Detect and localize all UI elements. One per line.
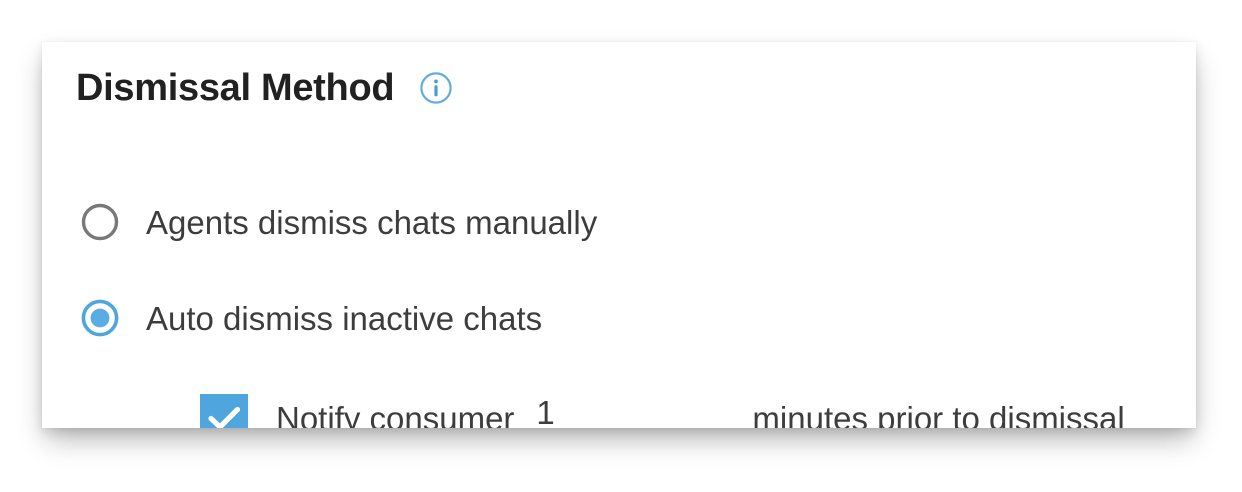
radio-selected-icon[interactable] — [80, 298, 120, 338]
notify-consumer-checkbox[interactable] — [200, 394, 248, 428]
radio-option-auto-label: Auto dismiss inactive chats — [146, 302, 542, 335]
notify-consumer-label: Notify consumer — [276, 402, 514, 429]
dismissal-method-card: Dismissal Method Agents dismiss chats ma… — [42, 42, 1196, 428]
radio-unselected-icon[interactable] — [80, 202, 120, 242]
card-header: Dismissal Method — [76, 58, 453, 118]
radio-option-manual-label: Agents dismiss chats manually — [146, 206, 597, 239]
notify-consumer-row: Notify consumer minutes prior to dismiss… — [200, 394, 1125, 428]
minutes-field-wrapper — [534, 394, 726, 428]
page-title: Dismissal Method — [76, 69, 394, 107]
radio-option-manual[interactable]: Agents dismiss chats manually — [80, 202, 597, 242]
minutes-input[interactable] — [534, 394, 726, 428]
info-circle-icon[interactable] — [419, 71, 453, 105]
minutes-suffix-label: minutes prior to dismissal — [752, 402, 1124, 429]
radio-option-auto[interactable]: Auto dismiss inactive chats — [80, 298, 542, 338]
